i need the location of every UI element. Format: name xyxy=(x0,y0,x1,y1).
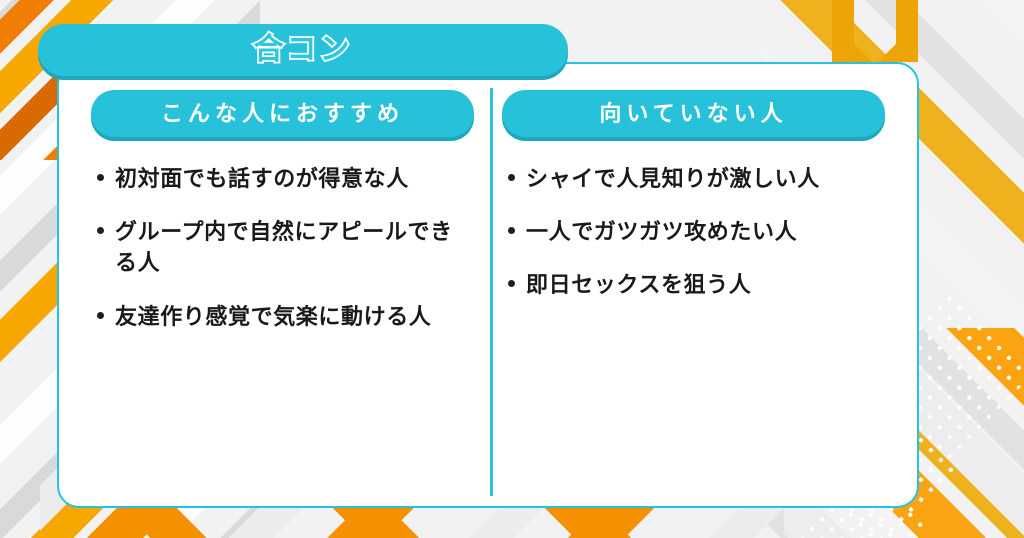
list-item-label: グループ内で自然にアピールできる人 xyxy=(115,216,474,278)
column-divider xyxy=(490,88,493,496)
list-item: 即日セックスを狙う人 xyxy=(502,269,885,300)
columns-container: こんな人におすすめ 初対面でも話すのが得意な人 グループ内で自然にアピールできる… xyxy=(59,64,917,506)
bullet-list-recommended: 初対面でも話すのが得意な人 グループ内で自然にアピールできる人 友達作り感覚で気… xyxy=(91,163,474,332)
slide-title-pill: 合コン xyxy=(38,24,568,76)
content-card: こんな人におすすめ 初対面でも話すのが得意な人 グループ内で自然にアピールできる… xyxy=(57,62,919,508)
bullet-list-not-suited: シャイで人見知りが激しい人 一人でガツガツ攻めたい人 即日セックスを狙う人 xyxy=(502,163,885,301)
bullet-dot-icon xyxy=(97,174,104,181)
list-item-label: 友達作り感覚で気楽に動ける人 xyxy=(115,301,431,332)
bullet-dot-icon xyxy=(97,227,104,234)
slide-canvas: こんな人におすすめ 初対面でも話すのが得意な人 グループ内で自然にアピールできる… xyxy=(0,0,1024,538)
page-title: 合コン xyxy=(254,35,353,65)
list-item: 初対面でも話すのが得意な人 xyxy=(91,163,474,194)
column-recommended: こんな人におすすめ 初対面でも話すのが得意な人 グループ内で自然にアピールできる… xyxy=(77,90,488,486)
column-heading-recommended: こんな人におすすめ xyxy=(91,90,474,137)
list-item: シャイで人見知りが激しい人 xyxy=(502,163,885,194)
bullet-dot-icon xyxy=(508,174,515,181)
bullet-dot-icon xyxy=(508,280,515,287)
column-not-suited: 向いていない人 シャイで人見知りが激しい人 一人でガツガツ攻めたい人 即日セック… xyxy=(488,90,899,486)
list-item-label: 初対面でも話すのが得意な人 xyxy=(115,163,409,194)
list-item-label: 即日セックスを狙う人 xyxy=(526,269,751,300)
column-heading-not-suited-label: 向いていない人 xyxy=(599,103,787,125)
column-heading-not-suited: 向いていない人 xyxy=(502,90,885,137)
list-item: 一人でガツガツ攻めたい人 xyxy=(502,216,885,247)
list-item-label: 一人でガツガツ攻めたい人 xyxy=(526,216,797,247)
chevron-icon xyxy=(832,0,918,62)
list-item-label: シャイで人見知りが激しい人 xyxy=(526,163,820,194)
list-item: 友達作り感覚で気楽に動ける人 xyxy=(91,301,474,332)
bullet-dot-icon xyxy=(508,227,515,234)
bullet-dot-icon xyxy=(97,312,104,319)
list-item: グループ内で自然にアピールできる人 xyxy=(91,216,474,278)
column-heading-recommended-label: こんな人におすすめ xyxy=(161,103,404,125)
